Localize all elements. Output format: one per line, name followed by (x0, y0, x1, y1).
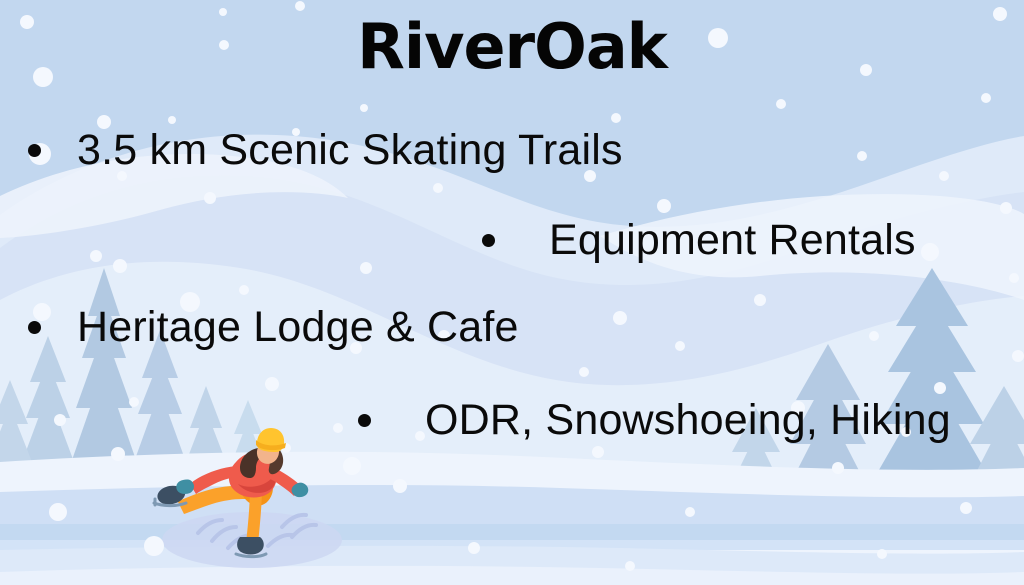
bullet-label: Heritage Lodge & Cafe (77, 305, 519, 350)
bullet-label: ODR, Snowshoeing, Hiking (425, 398, 951, 443)
bullet-dot-icon (358, 414, 371, 427)
list-item: Heritage Lodge & Cafe (28, 305, 519, 350)
list-item: Equipment Rentals (482, 218, 916, 263)
list-item: ODR, Snowshoeing, Hiking (358, 398, 951, 443)
bullet-dot-icon (28, 321, 41, 334)
bullet-label: 3.5 km Scenic Skating Trails (77, 128, 623, 173)
page-title: RiverOak (0, 16, 1024, 78)
list-item: 3.5 km Scenic Skating Trails (28, 128, 623, 173)
bullet-label: Equipment Rentals (549, 218, 916, 263)
bullet-dot-icon (28, 144, 41, 157)
bullet-dot-icon (482, 234, 495, 247)
winter-slide: RiverOak 3.5 km Scenic Skating Trails Eq… (0, 0, 1024, 585)
